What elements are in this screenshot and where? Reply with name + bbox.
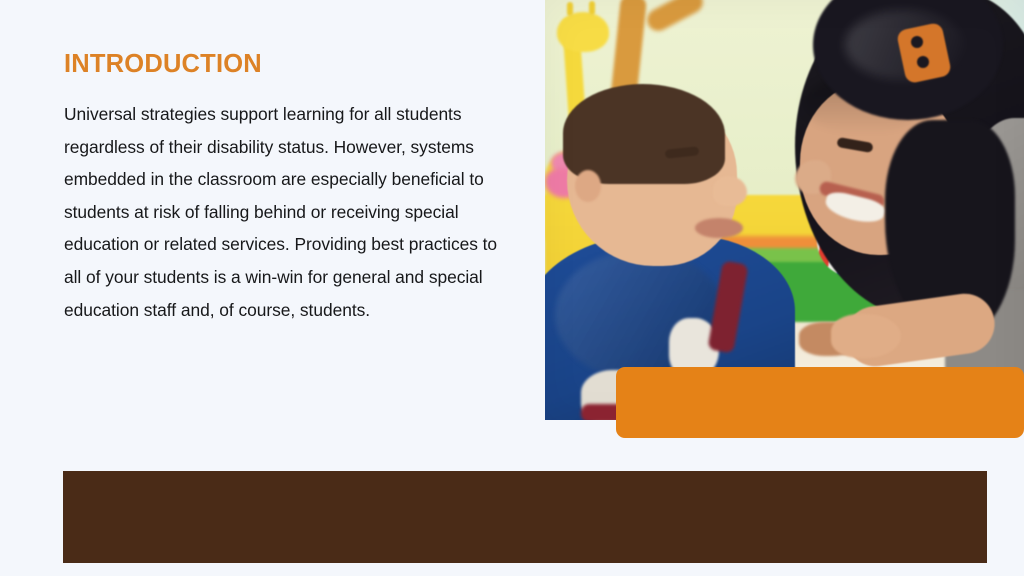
classroom-photo [545,0,1024,420]
page-title: INTRODUCTION [64,50,516,78]
text-column: INTRODUCTION Universal strategies suppor… [64,50,516,326]
orange-accent-bar [616,367,1024,438]
slide-canvas: INTRODUCTION Universal strategies suppor… [0,0,1024,576]
photo-vignette [545,0,1024,420]
brown-footer-bar [63,471,987,563]
body-paragraph: Universal strategies support learning fo… [64,98,516,326]
